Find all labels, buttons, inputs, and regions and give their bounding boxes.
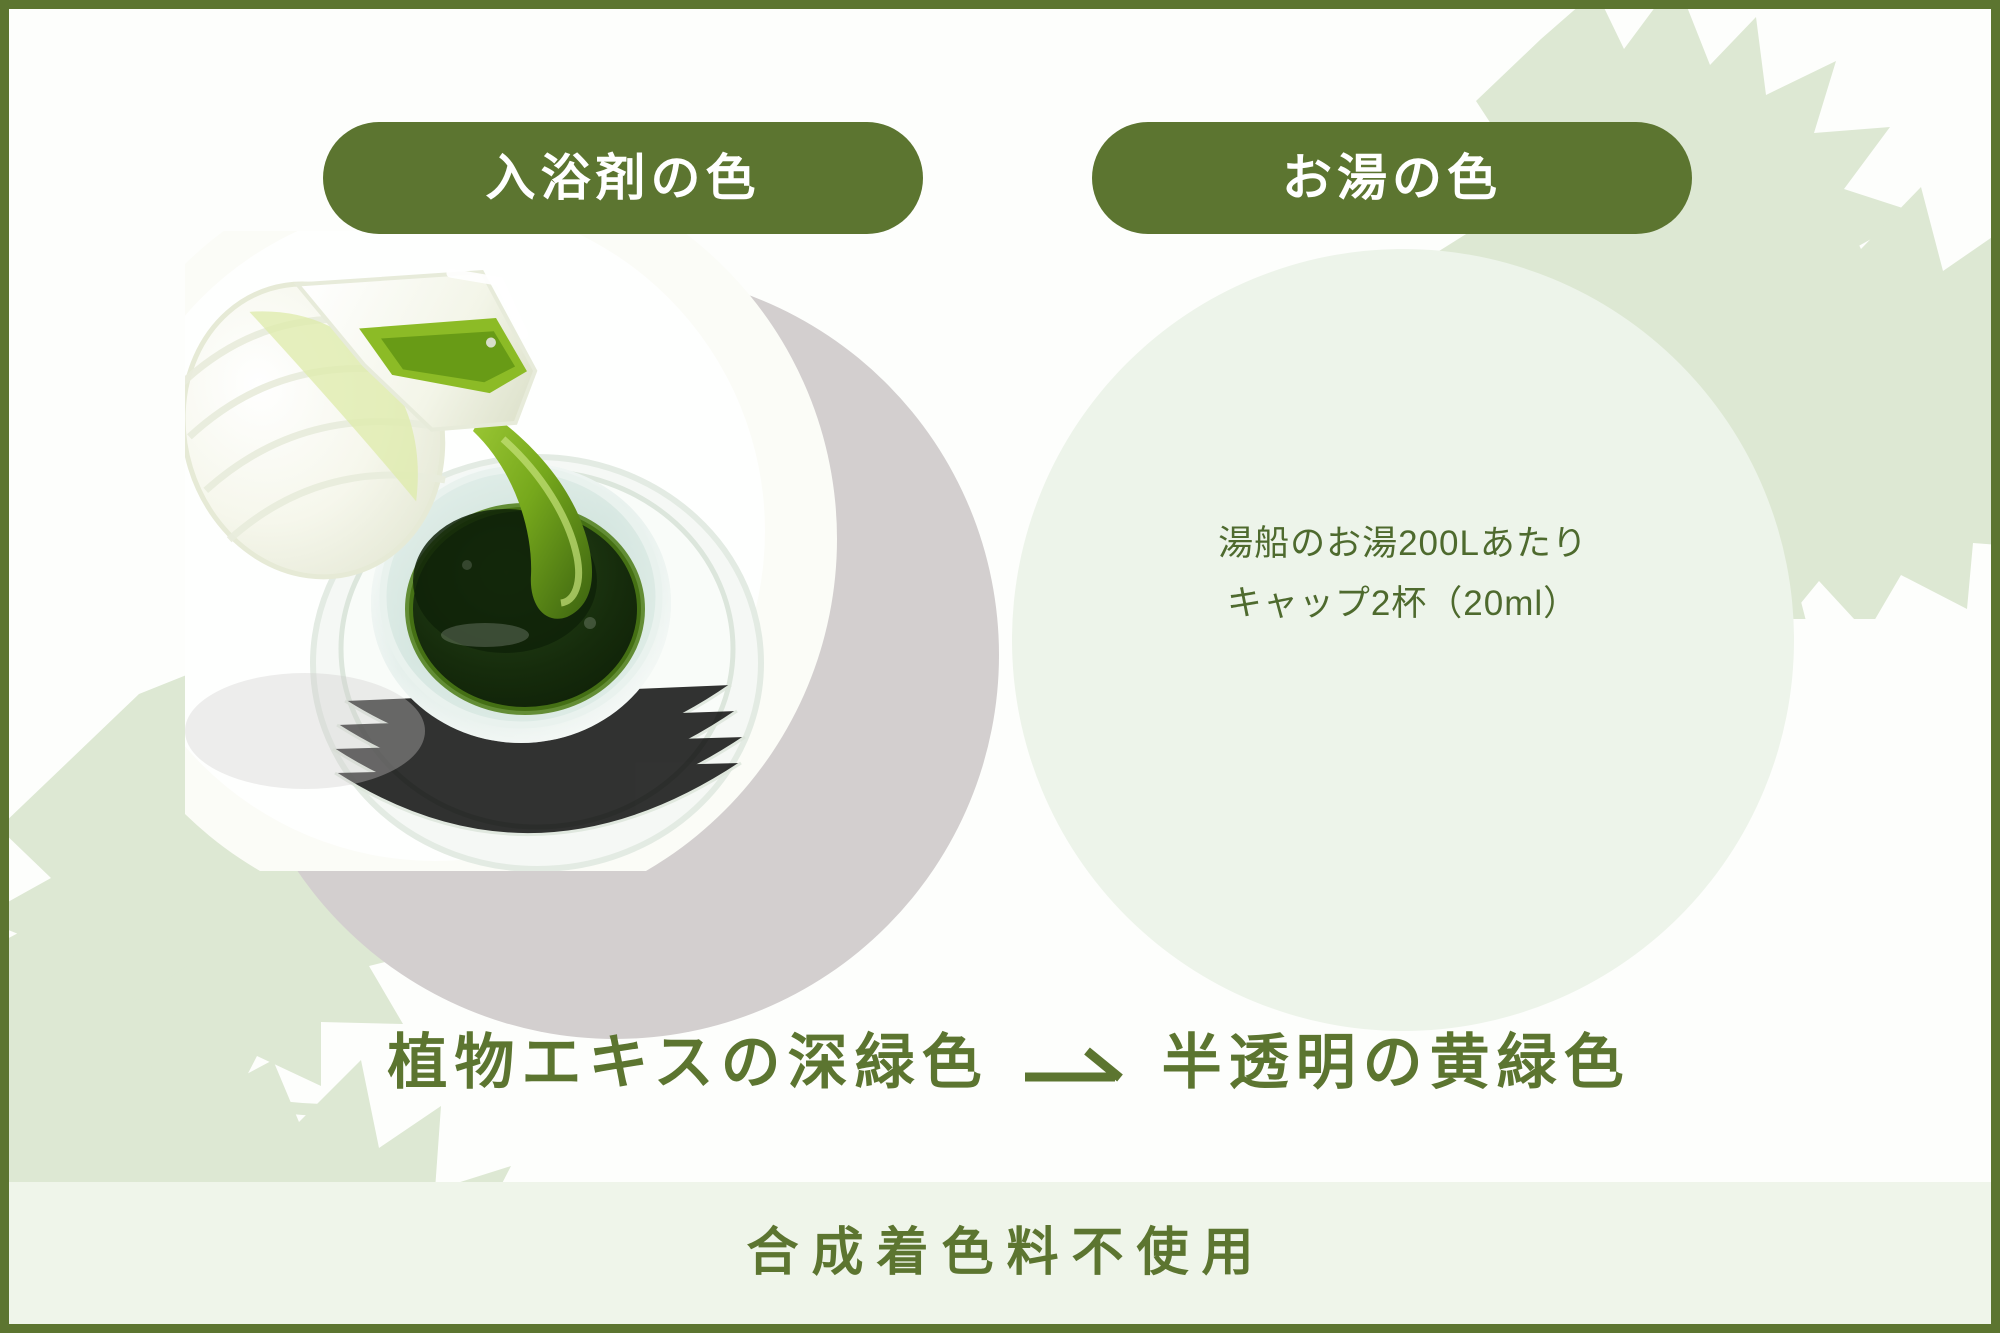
dosage-line-1: 湯船のお湯200Lあたり [1012, 514, 1794, 574]
no-synthetic-colorant-banner: 合成着色料不使用 [9, 1182, 1991, 1324]
hot-water-color-circle [1012, 249, 1794, 1031]
promo-panel: 入浴剤の色 お湯の色 湯船のお湯200Lあたり キャップ2杯（20ml） 植物エ… [0, 0, 2000, 1333]
caption-before-text: 植物エキスの深緑色 [387, 1033, 988, 1093]
product-pour-photo [185, 231, 845, 871]
color-change-caption: 植物エキスの深緑色 半透明の黄緑色 [9, 1033, 2000, 1093]
pill-label-hot-water: お湯の色 [1282, 153, 1502, 203]
tab-hot-water-color[interactable]: お湯の色 [1092, 122, 1692, 234]
caption-after-text: 半透明の黄緑色 [1162, 1033, 1631, 1093]
banner-label: 合成着色料不使用 [733, 1227, 1266, 1279]
dosage-note: 湯船のお湯200Lあたり キャップ2杯（20ml） [1012, 514, 1794, 634]
dosage-line-2: キャップ2杯（20ml） [1012, 574, 1794, 634]
tab-bath-additive-color[interactable]: 入浴剤の色 [323, 122, 923, 234]
right-arrow-icon [1023, 1041, 1128, 1085]
pill-label-bath-additive: 入浴剤の色 [486, 153, 761, 203]
